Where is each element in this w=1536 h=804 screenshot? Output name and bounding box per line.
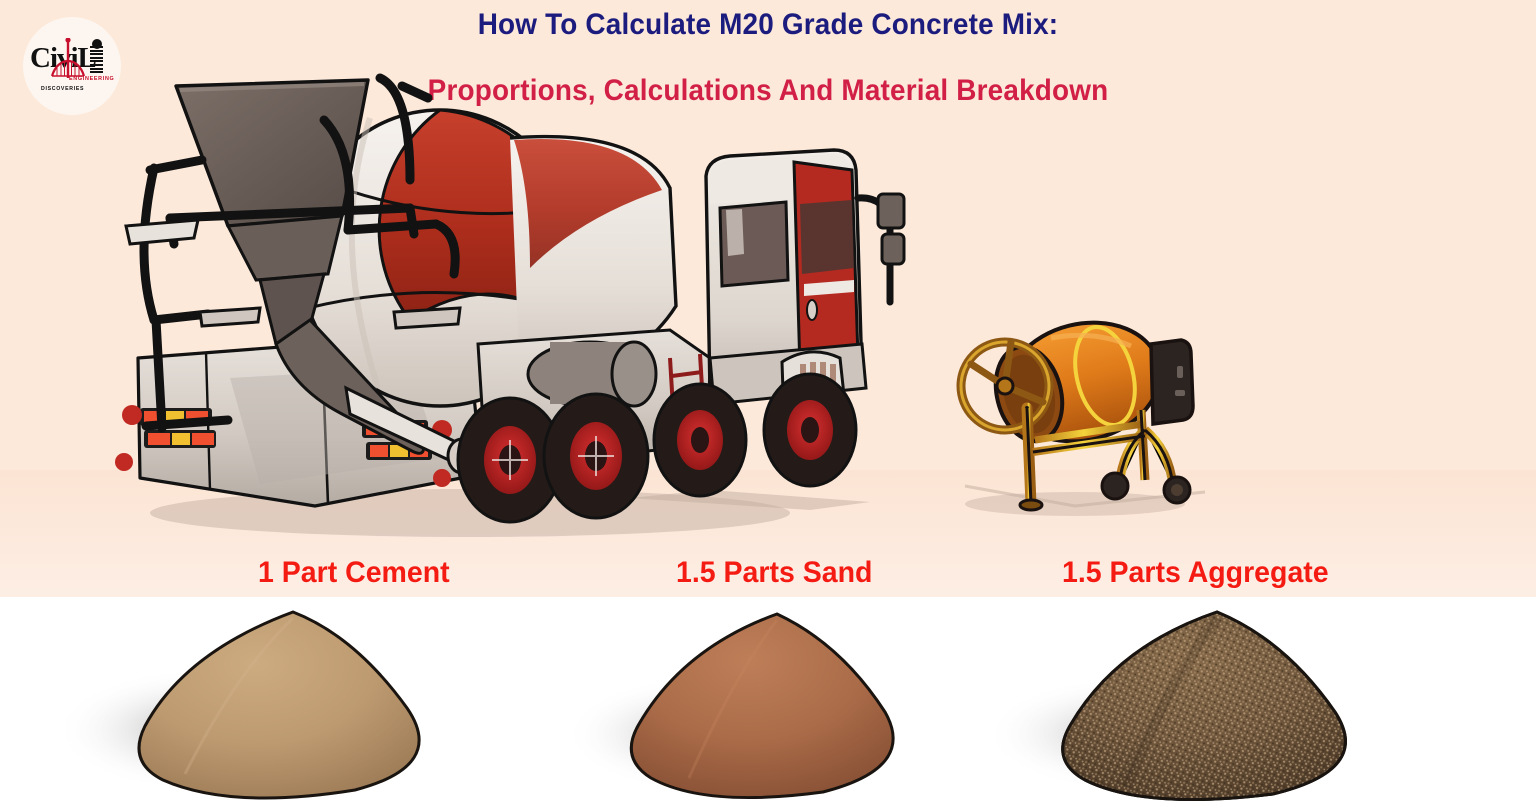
proportion-label-sand: 1.5 Parts Sand bbox=[676, 556, 872, 590]
pile-aggregate bbox=[985, 604, 1455, 804]
portable-concrete-mixer bbox=[955, 290, 1220, 530]
infographic-canvas: CiviL ENGINEE bbox=[0, 0, 1536, 804]
material-piles-band bbox=[0, 597, 1536, 804]
proportion-label-cement: 1 Part Cement bbox=[258, 556, 450, 590]
pile-sand bbox=[565, 604, 995, 804]
page-title: How To Calculate M20 Grade Concrete Mix: bbox=[54, 8, 1482, 42]
scene-background: CiviL ENGINEE bbox=[0, 0, 1536, 597]
concrete-mixer-truck bbox=[110, 58, 880, 548]
pile-cement bbox=[55, 604, 575, 804]
proportion-label-aggregate: 1.5 Parts Aggregate bbox=[1062, 556, 1329, 590]
